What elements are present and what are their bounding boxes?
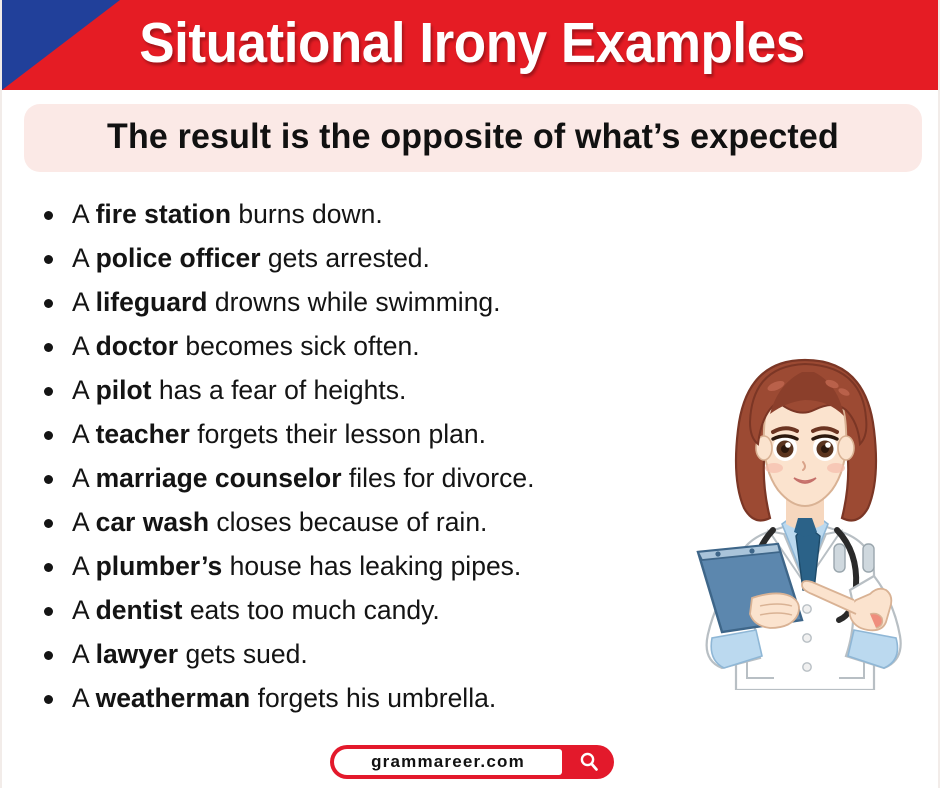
bullet-icon (44, 607, 53, 616)
item-tail: burns down. (231, 199, 383, 229)
bullet-icon (44, 563, 53, 572)
item-term: marriage counselor (96, 463, 342, 493)
item-lead: A (72, 639, 96, 669)
item-lead: A (72, 419, 96, 449)
bullet-icon (44, 343, 53, 352)
item-lead: A (72, 595, 96, 625)
list-item: A weatherman forgets his umbrella. (40, 676, 700, 720)
item-term: lawyer (96, 639, 179, 669)
site-logo[interactable]: grammareer.com (330, 745, 614, 779)
item-lead: A (72, 331, 96, 361)
item-lead: A (72, 551, 96, 581)
item-tail: files for divorce. (342, 463, 535, 493)
list-item: A pilot has a fear of heights. (40, 368, 700, 412)
bullet-icon (44, 211, 53, 220)
item-tail: gets sued. (178, 639, 308, 669)
item-tail: forgets their lesson plan. (190, 419, 486, 449)
bullet-icon (44, 651, 53, 660)
bullet-icon (44, 695, 53, 704)
item-lead: A (72, 507, 96, 537)
item-term: teacher (96, 419, 190, 449)
list-item: A police officer gets arrested. (40, 236, 700, 280)
search-icon (578, 751, 600, 773)
item-term: lifeguard (96, 287, 208, 317)
item-tail: eats too much candy. (182, 595, 439, 625)
list-item: A car wash closes because of rain. (40, 500, 700, 544)
list-item: A teacher forgets their lesson plan. (40, 412, 700, 456)
logo-inner-plate: grammareer.com (334, 749, 562, 775)
subtitle-text: The result is the opposite of what’s exp… (37, 104, 908, 172)
item-tail: forgets his umbrella. (250, 683, 496, 713)
item-lead: A (72, 683, 96, 713)
item-tail: becomes sick often. (178, 331, 420, 361)
list-item: A dentist eats too much candy. (40, 588, 700, 632)
item-lead: A (72, 199, 96, 229)
item-term: weatherman (96, 683, 251, 713)
item-term: police officer (96, 243, 261, 273)
list-item: A marriage counselor files for divorce. (40, 456, 700, 500)
list-item: A doctor becomes sick often. (40, 324, 700, 368)
list-item: A fire station burns down. (40, 192, 700, 236)
bullet-icon (44, 387, 53, 396)
bullet-icon (44, 431, 53, 440)
item-tail: drowns while swimming. (207, 287, 500, 317)
item-term: plumber’s (96, 551, 223, 581)
item-tail: closes because of rain. (209, 507, 487, 537)
item-tail: house has leaking pipes. (222, 551, 521, 581)
item-tail: gets arrested. (261, 243, 430, 273)
item-lead: A (72, 243, 96, 273)
bullet-icon (44, 299, 53, 308)
item-lead: A (72, 375, 96, 405)
female-doctor-illustration (674, 338, 936, 690)
item-term: doctor (96, 331, 178, 361)
poster-root: Situational Irony Examples The result is… (0, 0, 940, 788)
item-term: dentist (96, 595, 183, 625)
item-lead: A (72, 287, 96, 317)
examples-list: A fire station burns down. A police offi… (40, 192, 700, 720)
list-item: A plumber’s house has leaking pipes. (40, 544, 700, 588)
subtitle-band: The result is the opposite of what’s exp… (24, 104, 922, 172)
bullet-icon (44, 255, 53, 264)
bullet-icon (44, 519, 53, 528)
item-lead: A (72, 463, 96, 493)
item-term: pilot (96, 375, 152, 405)
page-title: Situational Irony Examples (35, 0, 909, 90)
bullet-icon (44, 475, 53, 484)
item-term: fire station (96, 199, 231, 229)
logo-text: grammareer.com (334, 749, 562, 775)
header-banner: Situational Irony Examples (2, 0, 940, 90)
list-item: A lifeguard drowns while swimming. (40, 280, 700, 324)
item-tail: has a fear of heights. (152, 375, 407, 405)
list-item: A lawyer gets sued. (40, 632, 700, 676)
item-term: car wash (96, 507, 209, 537)
